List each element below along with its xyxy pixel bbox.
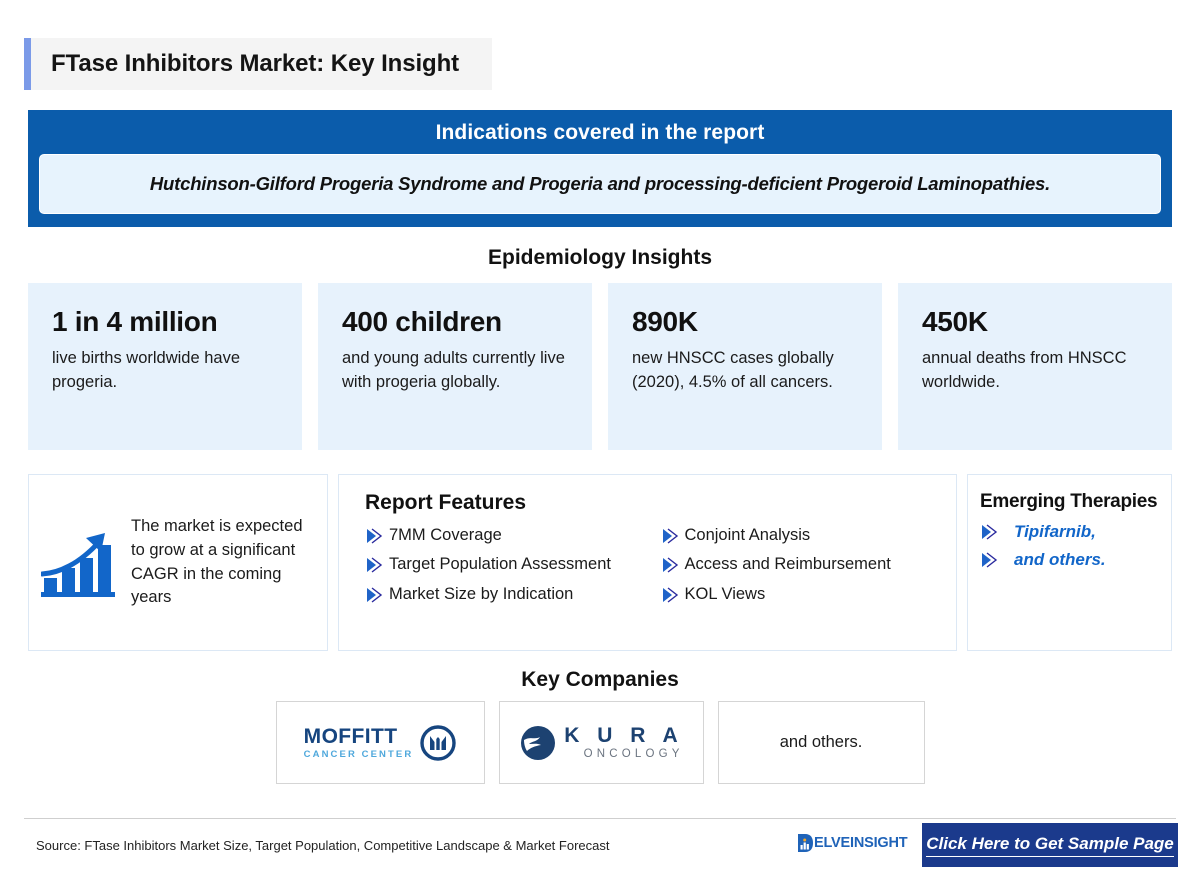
moffitt-mark-icon [420,725,456,761]
report-features-right-column: Conjoint Analysis Access and Reimburseme… [661,525,957,613]
title-accent-bar [24,38,31,90]
epidemiology-heading: Epidemiology Insights [0,246,1200,270]
emerging-therapy-item: and others. [980,549,1171,571]
delveinsight-logo: ELVEINSIGHT [797,833,907,853]
report-features-left-column: 7MM Coverage Target Population Assessmen… [365,525,661,613]
double-chevron-icon [365,527,383,545]
key-companies-row: MOFFITT CANCER CENTER K U R A ONCOLOGY a [0,701,1200,784]
emerging-therapies-panel: Emerging Therapies Tipifarnib, and other… [967,474,1172,651]
report-feature-item: Conjoint Analysis [661,525,957,546]
market-growth-panel: The market is expected to grow at a sign… [28,474,328,651]
epi-card: 400 children and young adults currently … [318,283,592,450]
double-chevron-icon [661,556,679,574]
report-feature-label: Target Population Assessment [389,554,611,575]
bar-chart-growth-icon [41,526,121,600]
indications-text-box: Hutchinson-Gilford Progeria Syndrome and… [39,154,1161,214]
company-logo-moffitt: MOFFITT CANCER CENTER [276,701,485,784]
epidemiology-cards: 1 in 4 million live births worldwide hav… [28,283,1172,450]
epi-card-desc: live births worldwide have progeria. [52,347,280,395]
double-chevron-icon [661,586,679,604]
key-companies-heading: Key Companies [0,668,1200,692]
footer-source-text: Source: FTase Inhibitors Market Size, Ta… [36,838,609,853]
report-feature-item: Market Size by Indication [365,584,661,605]
delveinsight-d-icon [797,833,814,853]
indications-text: Hutchinson-Gilford Progeria Syndrome and… [142,173,1058,195]
company-and-others-label: and others. [780,733,863,752]
get-sample-page-label: Click Here to Get Sample Page [926,834,1174,857]
epi-card-value: 1 in 4 million [52,307,280,338]
double-chevron-icon [661,527,679,545]
report-feature-label: Access and Reimbursement [685,554,891,575]
epi-card: 890K new HNSCC cases globally (2020), 4.… [608,283,882,450]
report-feature-label: KOL Views [685,584,766,605]
footer-divider [24,818,1176,819]
company-logo-kura: K U R A ONCOLOGY [499,701,704,784]
double-chevron-icon [365,586,383,604]
report-feature-label: 7MM Coverage [389,525,502,546]
kura-wordmark: K U R A [564,725,683,746]
page-title-bar: FTase Inhibitors Market: Key Insight [24,38,492,90]
middle-row: The market is expected to grow at a sign… [28,474,1172,651]
report-feature-item: Target Population Assessment [365,554,661,575]
epi-card-desc: new HNSCC cases globally (2020), 4.5% of… [632,347,860,395]
get-sample-page-button[interactable]: Click Here to Get Sample Page [922,823,1178,867]
emerging-therapies-title: Emerging Therapies [980,491,1171,513]
report-feature-label: Market Size by Indication [389,584,573,605]
double-chevron-icon [980,551,998,569]
epi-card: 1 in 4 million live births worldwide hav… [28,283,302,450]
double-chevron-icon [365,556,383,574]
report-feature-label: Conjoint Analysis [685,525,811,546]
moffitt-tagline: CANCER CENTER [304,750,414,760]
epi-card-desc: annual deaths from HNSCC worldwide. [922,347,1150,395]
emerging-therapy-label: and others. [1014,549,1106,571]
epi-card: 450K annual deaths from HNSCC worldwide. [898,283,1172,450]
epi-card-value: 400 children [342,307,570,338]
market-growth-text: The market is expected to grow at a sign… [131,515,313,611]
double-chevron-icon [980,523,998,541]
epi-card-desc: and young adults currently live with pro… [342,347,570,395]
company-and-others: and others. [718,701,925,784]
report-feature-item: KOL Views [661,584,957,605]
delveinsight-wordmark: ELVEINSIGHT [814,836,907,851]
report-features-panel: Report Features 7MM Coverage Target Popu… [338,474,957,651]
epi-card-value: 450K [922,307,1150,338]
epi-card-value: 890K [632,307,860,338]
report-features-title: Report Features [365,491,956,515]
kura-mark-icon [518,723,558,763]
moffitt-wordmark: MOFFITT [304,726,414,747]
indications-banner: Indications covered in the report Hutchi… [28,110,1172,227]
report-feature-item: 7MM Coverage [365,525,661,546]
indications-heading: Indications covered in the report [28,110,1172,145]
page-title: FTase Inhibitors Market: Key Insight [31,50,459,78]
report-feature-item: Access and Reimbursement [661,554,957,575]
emerging-therapy-item: Tipifarnib, [980,521,1171,543]
kura-tagline: ONCOLOGY [564,749,683,761]
emerging-therapy-label: Tipifarnib, [1014,521,1096,543]
